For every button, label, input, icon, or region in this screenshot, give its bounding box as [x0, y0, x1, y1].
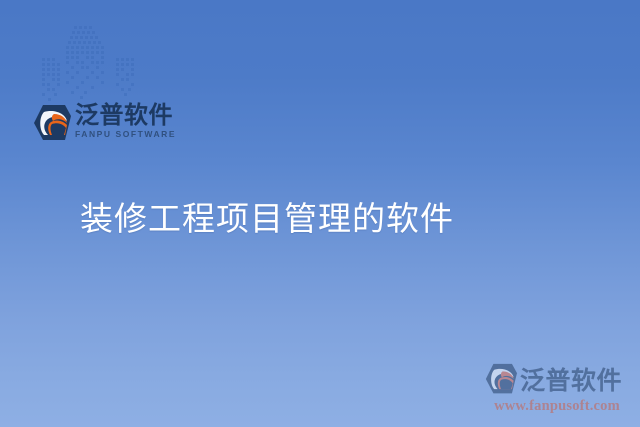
slide-canvas: 泛普软件 FANPU SOFTWARE 装修工程项目管理的软件 泛普软件 www…: [0, 0, 640, 427]
brand-wordmark: 泛普软件 FANPU SOFTWARE: [75, 103, 176, 139]
fanpu-logo-mark-icon: [32, 104, 72, 142]
brand-name-cn: 泛普软件: [75, 103, 176, 127]
watermark-logo-row: 泛普软件: [484, 361, 630, 397]
page-title: 装修工程项目管理的软件: [80, 200, 454, 239]
watermark-url: www.fanpusoft.com: [484, 398, 630, 415]
watermark-name-cn: 泛普软件: [520, 361, 622, 397]
watermark-logo-mark-icon: [484, 363, 518, 395]
brand-name-en: FANPU SOFTWARE: [75, 130, 176, 139]
watermark: 泛普软件 www.fanpusoft.com: [484, 361, 630, 421]
pixel-halftone-pattern: [40, 24, 148, 108]
brand-logo: 泛普软件 FANPU SOFTWARE: [32, 103, 167, 153]
